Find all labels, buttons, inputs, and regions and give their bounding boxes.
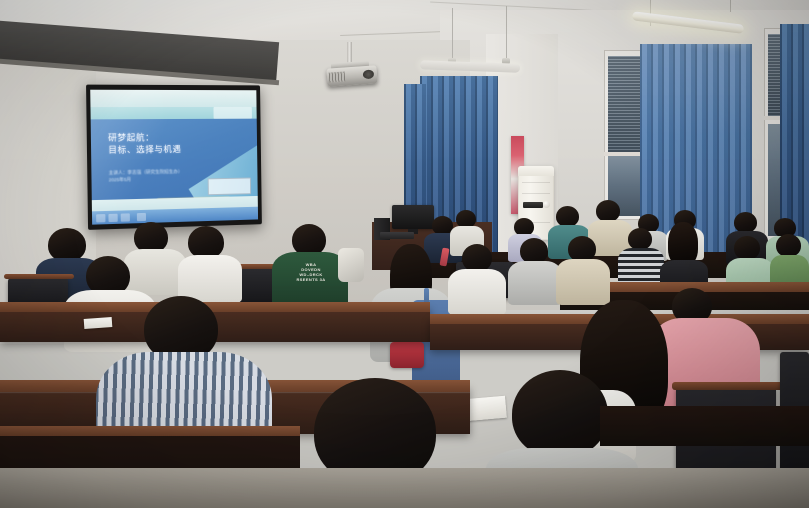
ac-top-vent [518,166,554,176]
desk-right-foreground [600,406,809,446]
taskbar-button-4[interactable] [137,213,146,221]
head [512,370,608,458]
desk-front-edge [0,426,300,436]
taskbar-button-3[interactable] [121,213,130,221]
computer-monitor [392,205,434,229]
torso [448,269,506,315]
shirt-print-text: WBADOVEDNWD–DRCKRSEENTS 3A [284,262,338,282]
head [596,200,620,222]
taskbar-button-2[interactable] [108,213,117,221]
slide-title: 研梦起航： 目标、选择与机遇 [108,130,235,156]
head [48,228,86,262]
handout-sheet-left [84,317,113,329]
head [462,244,492,272]
computer-keyboard[interactable] [380,232,414,239]
curtain-rail-wire-b [506,6,507,60]
desk-row-2-surface [0,302,430,312]
slide-top-band [90,90,256,108]
projector-vent [329,71,346,82]
curtain-rail-wire-a [452,8,453,60]
head [734,212,757,233]
projector-mount-pole [347,42,352,64]
head [628,228,652,250]
head [556,206,579,227]
ac-seam-2 [522,193,550,194]
light-wire-right-b [730,0,731,12]
ac-display-panel [523,202,543,208]
floor [0,468,809,508]
person-row2-green-bag-white [338,248,364,282]
ac-seam-1 [522,182,550,183]
ac-control-knob[interactable] [543,201,550,208]
torso [508,261,562,305]
classroom-photo: 研梦起航： 目标、选择与机遇 主讲人：李志强（研究生院招生办） 2025年5月 [0,0,809,508]
slide-corner-badge [213,107,252,119]
slide-title-line2: 目标、选择与机遇 [108,143,235,157]
head [734,236,760,260]
torso [124,249,186,295]
taskbar-button-1[interactable] [96,214,105,222]
slide-tooltip-box [207,178,251,195]
projection-screen-surface: 研梦起航： 目标、选择与机遇 主讲人：李志强（研究生院招生办） 2025年5月 [90,90,258,225]
head [776,234,801,257]
chair-rail-foreground-right [672,382,784,390]
torso [556,259,610,305]
red-shoulder-bag [390,342,424,368]
chair-rail-row2-left [4,274,74,279]
projection-screen[interactable]: 研梦起航： 目标、选择与机遇 主讲人：李志强（研究生院招生办） 2025年5月 [86,85,262,230]
